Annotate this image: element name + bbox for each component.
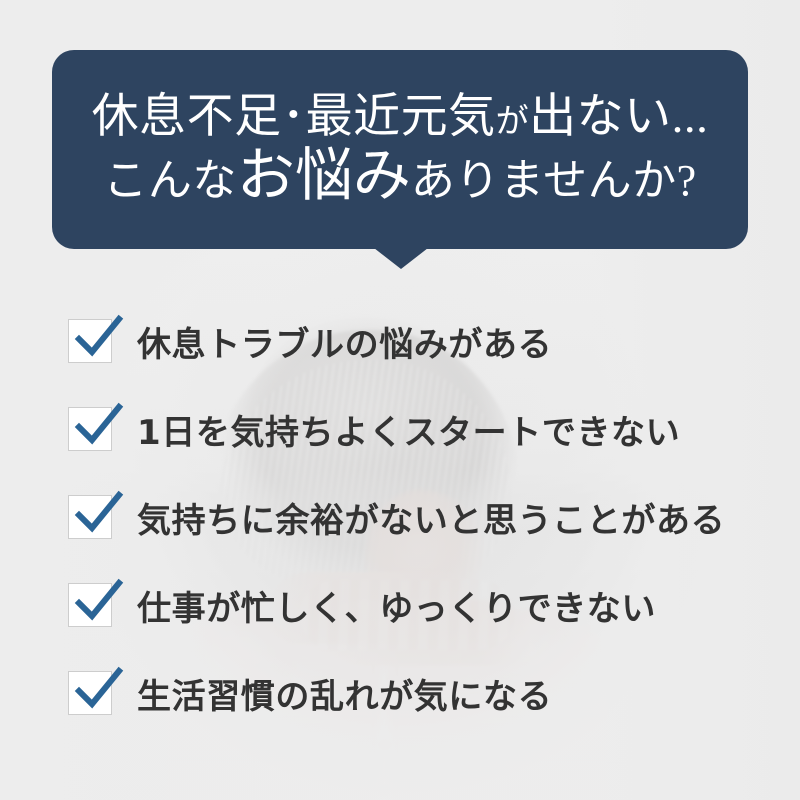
checkbox-2[interactable] [68, 407, 112, 451]
check-icon [72, 578, 124, 628]
headline-line-2-part2: ありませんか? [411, 158, 697, 204]
headline-line-2-part1: こんな [103, 158, 237, 204]
checklist-item-label: 休息トラブルの悩みがある [137, 317, 552, 366]
check-icon [72, 666, 124, 716]
checklist-item-label: 仕事が忙しく、ゆっくりできない [137, 581, 656, 630]
checklist-item-label: 1日を気持ちよくスタートできない [137, 405, 680, 454]
check-icon [72, 402, 124, 452]
checkbox-1[interactable] [68, 319, 112, 363]
headline-speech-bubble: 休息不足･最近元気が出ない... こんなお悩みありませんか? [52, 50, 748, 249]
checkbox-5[interactable] [68, 671, 112, 715]
checklist-item-label: 生活習慣の乱れが気になる [137, 669, 552, 718]
headline-line-1-part2: 出ない... [529, 92, 708, 143]
speech-bubble-tail [374, 248, 428, 269]
headline-line-1-particle: が [496, 105, 530, 141]
check-icon [72, 314, 124, 364]
check-icon [72, 490, 124, 540]
headline-line-2: こんなお悩みありませんか? [103, 146, 696, 207]
checkbox-3[interactable] [68, 495, 112, 539]
headline-line-2-emphasis: お悩み [237, 146, 411, 207]
checklist-item-label: 気持ちに余裕がないと思うことがある [137, 493, 725, 542]
headline-line-1-part1: 休息不足･最近元気 [92, 92, 496, 143]
checklist-item[interactable]: 生活習慣の乱れが気になる [68, 649, 768, 737]
checklist-item[interactable]: 気持ちに余裕がないと思うことがある [68, 473, 768, 561]
problem-checklist: 休息トラブルの悩みがある 1日を気持ちよくスタートできない 気持ちに余裕がないと… [68, 297, 768, 737]
checklist-item[interactable]: 1日を気持ちよくスタートできない [68, 385, 768, 473]
promo-banner: 休息不足･最近元気が出ない... こんなお悩みありませんか? 休息トラブルの悩み… [0, 0, 800, 800]
checklist-item[interactable]: 休息トラブルの悩みがある [68, 297, 768, 385]
checklist-item[interactable]: 仕事が忙しく、ゆっくりできない [68, 561, 768, 649]
checkbox-4[interactable] [68, 583, 112, 627]
headline-line-1: 休息不足･最近元気が出ない... [92, 92, 709, 143]
